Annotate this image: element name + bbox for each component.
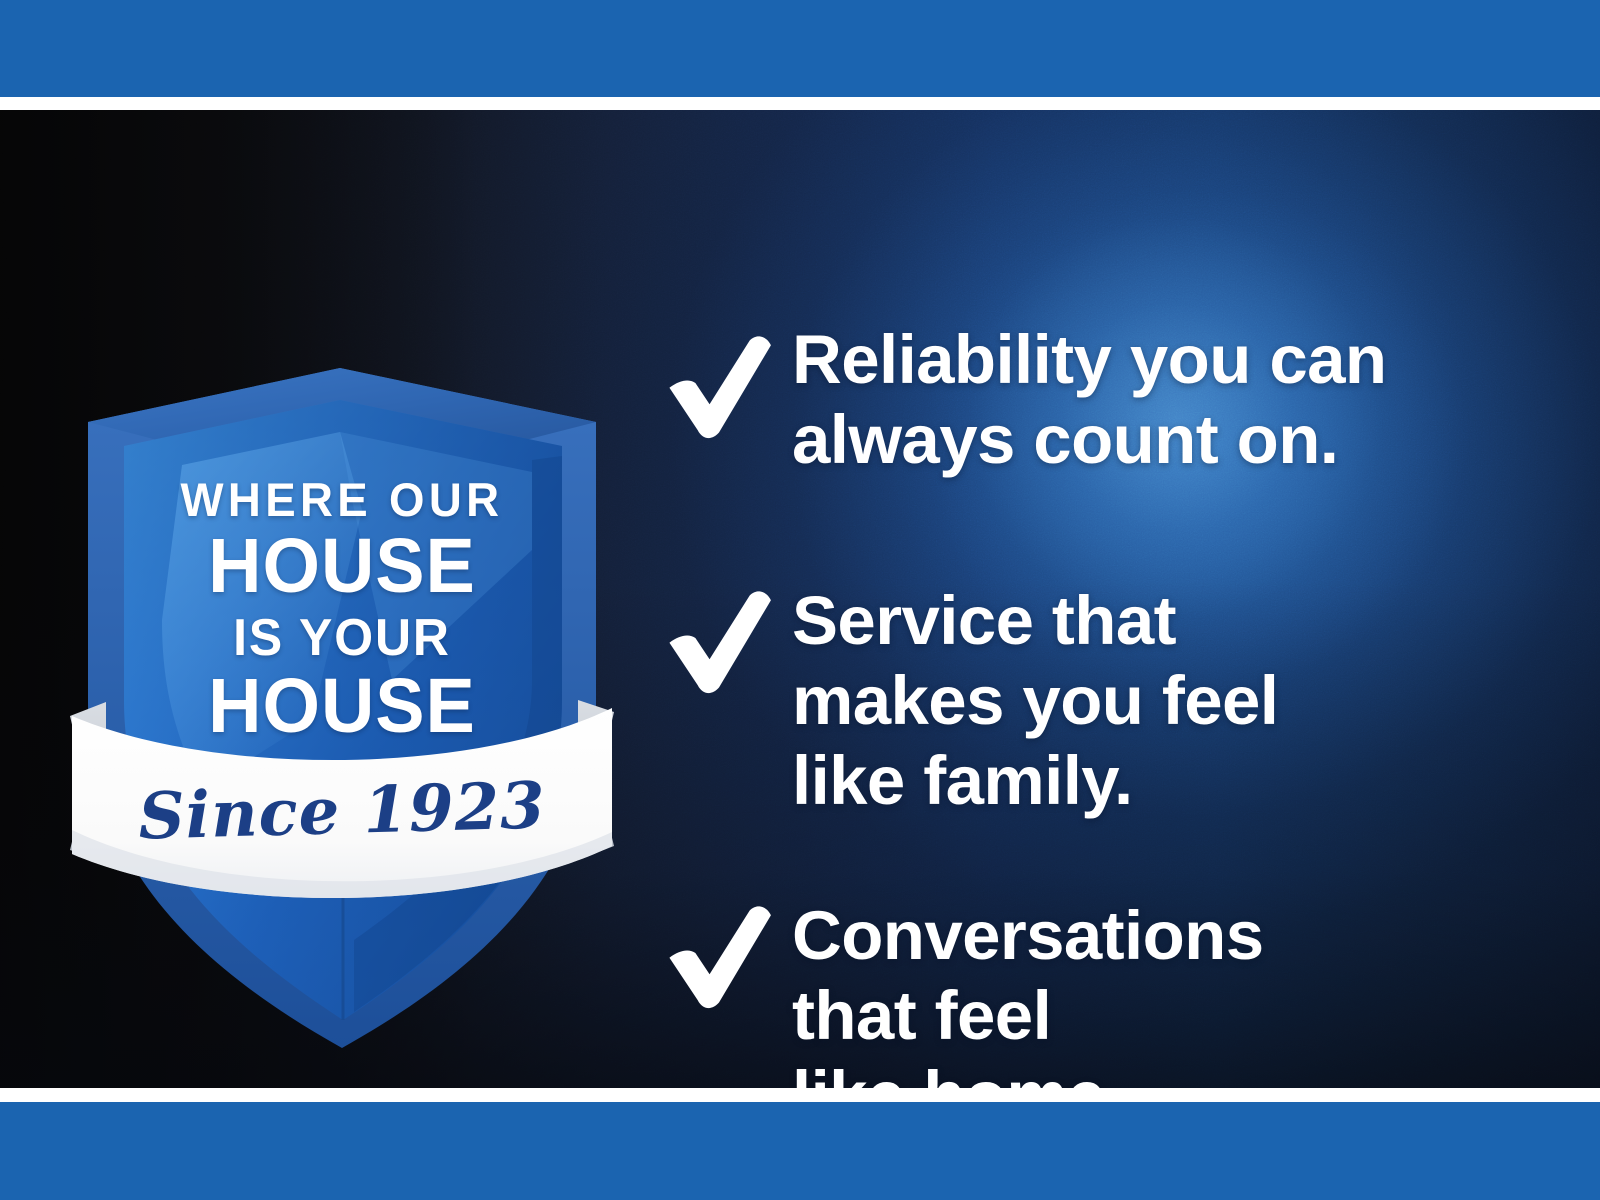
benefit-text-reliability: Reliability you can always count on. [792, 320, 1386, 480]
benefit-item-conversations: Conversations that feel like home. [660, 890, 1264, 1088]
top-brand-bar [0, 0, 1600, 97]
main-stage: WHERE OUR HOUSE IS YOUR HOUSE Since 1923… [0, 110, 1600, 1088]
check-mark-icon [660, 890, 792, 1012]
shield-badge-icon [62, 250, 622, 1060]
benefit-item-reliability: Reliability you can always count on. [660, 320, 1386, 480]
benefits-list: Reliability you can always count on. Ser… [660, 220, 1560, 1088]
bottom-divider [0, 1088, 1600, 1102]
benefit-text-service: Service that makes you feel like family. [792, 575, 1278, 821]
top-divider [0, 97, 1600, 110]
check-mark-icon [660, 320, 792, 442]
benefit-item-service: Service that makes you feel like family. [660, 575, 1278, 821]
benefit-text-conversations: Conversations that feel like home. [792, 890, 1264, 1088]
check-mark-icon [660, 575, 792, 697]
bottom-brand-bar [0, 1102, 1600, 1200]
promo-graphic: WHERE OUR HOUSE IS YOUR HOUSE Since 1923… [0, 0, 1600, 1200]
shield-badge: WHERE OUR HOUSE IS YOUR HOUSE Since 1923 [62, 250, 622, 1060]
